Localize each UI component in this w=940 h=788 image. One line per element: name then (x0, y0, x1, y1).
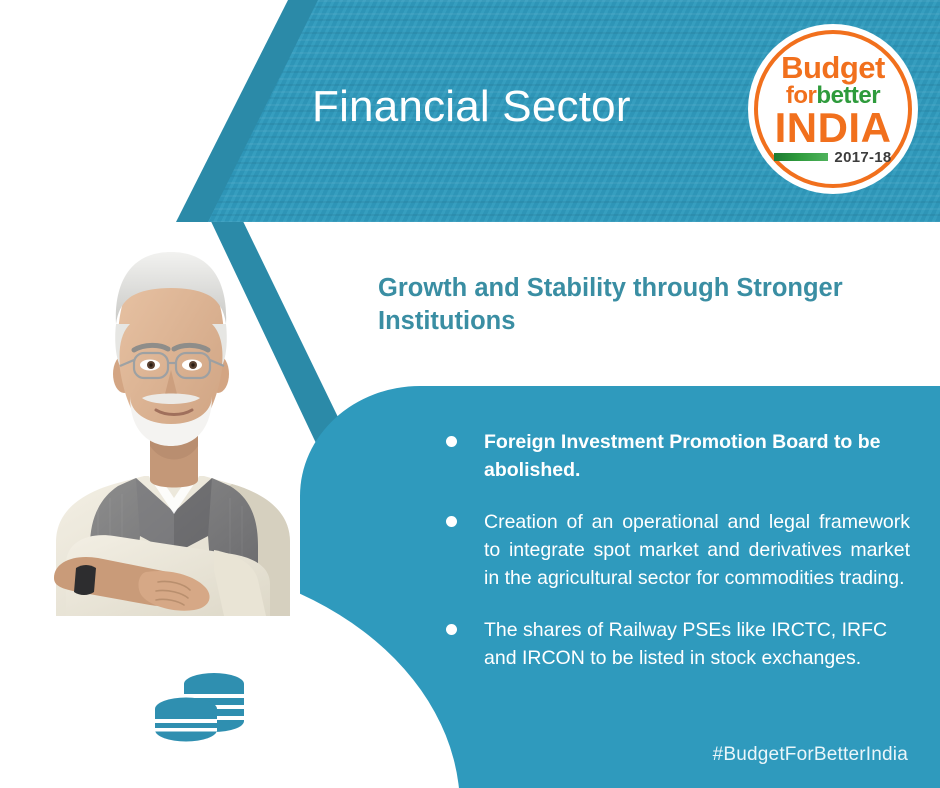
bullet-list: Foreign Investment Promotion Board to be… (440, 428, 910, 697)
bullet-text: The shares of Railway PSEs like IRCTC, I… (484, 616, 910, 672)
infographic-poster: Financial Sector Budget forbetter INDIA … (0, 0, 940, 788)
list-item: Foreign Investment Promotion Board to be… (440, 428, 910, 484)
flag-bar-icon (774, 153, 828, 161)
page-title: Financial Sector (312, 82, 732, 132)
budget-logo-badge: Budget forbetter INDIA 2017-18 (748, 24, 918, 194)
logo-year-text: 2017-18 (834, 149, 891, 166)
logo-india-text: INDIA (775, 109, 892, 148)
portrait-narendra-modi (18, 206, 324, 616)
bullet-text: Foreign Investment Promotion Board to be… (484, 428, 910, 484)
bullet-text: Creation of an operational and legal fra… (484, 508, 910, 592)
list-item: Creation of an operational and legal fra… (440, 508, 910, 592)
coins-icon (152, 664, 256, 748)
hashtag-label: #BudgetForBetterIndia (713, 744, 908, 766)
logo-footer-line: 2017-18 (774, 149, 891, 166)
page-subtitle: Growth and Stability through Stronger In… (378, 272, 908, 337)
logo-ring: Budget forbetter INDIA 2017-18 (754, 30, 912, 188)
list-item: The shares of Railway PSEs like IRCTC, I… (440, 616, 910, 672)
logo-budget-text: Budget (781, 53, 885, 83)
